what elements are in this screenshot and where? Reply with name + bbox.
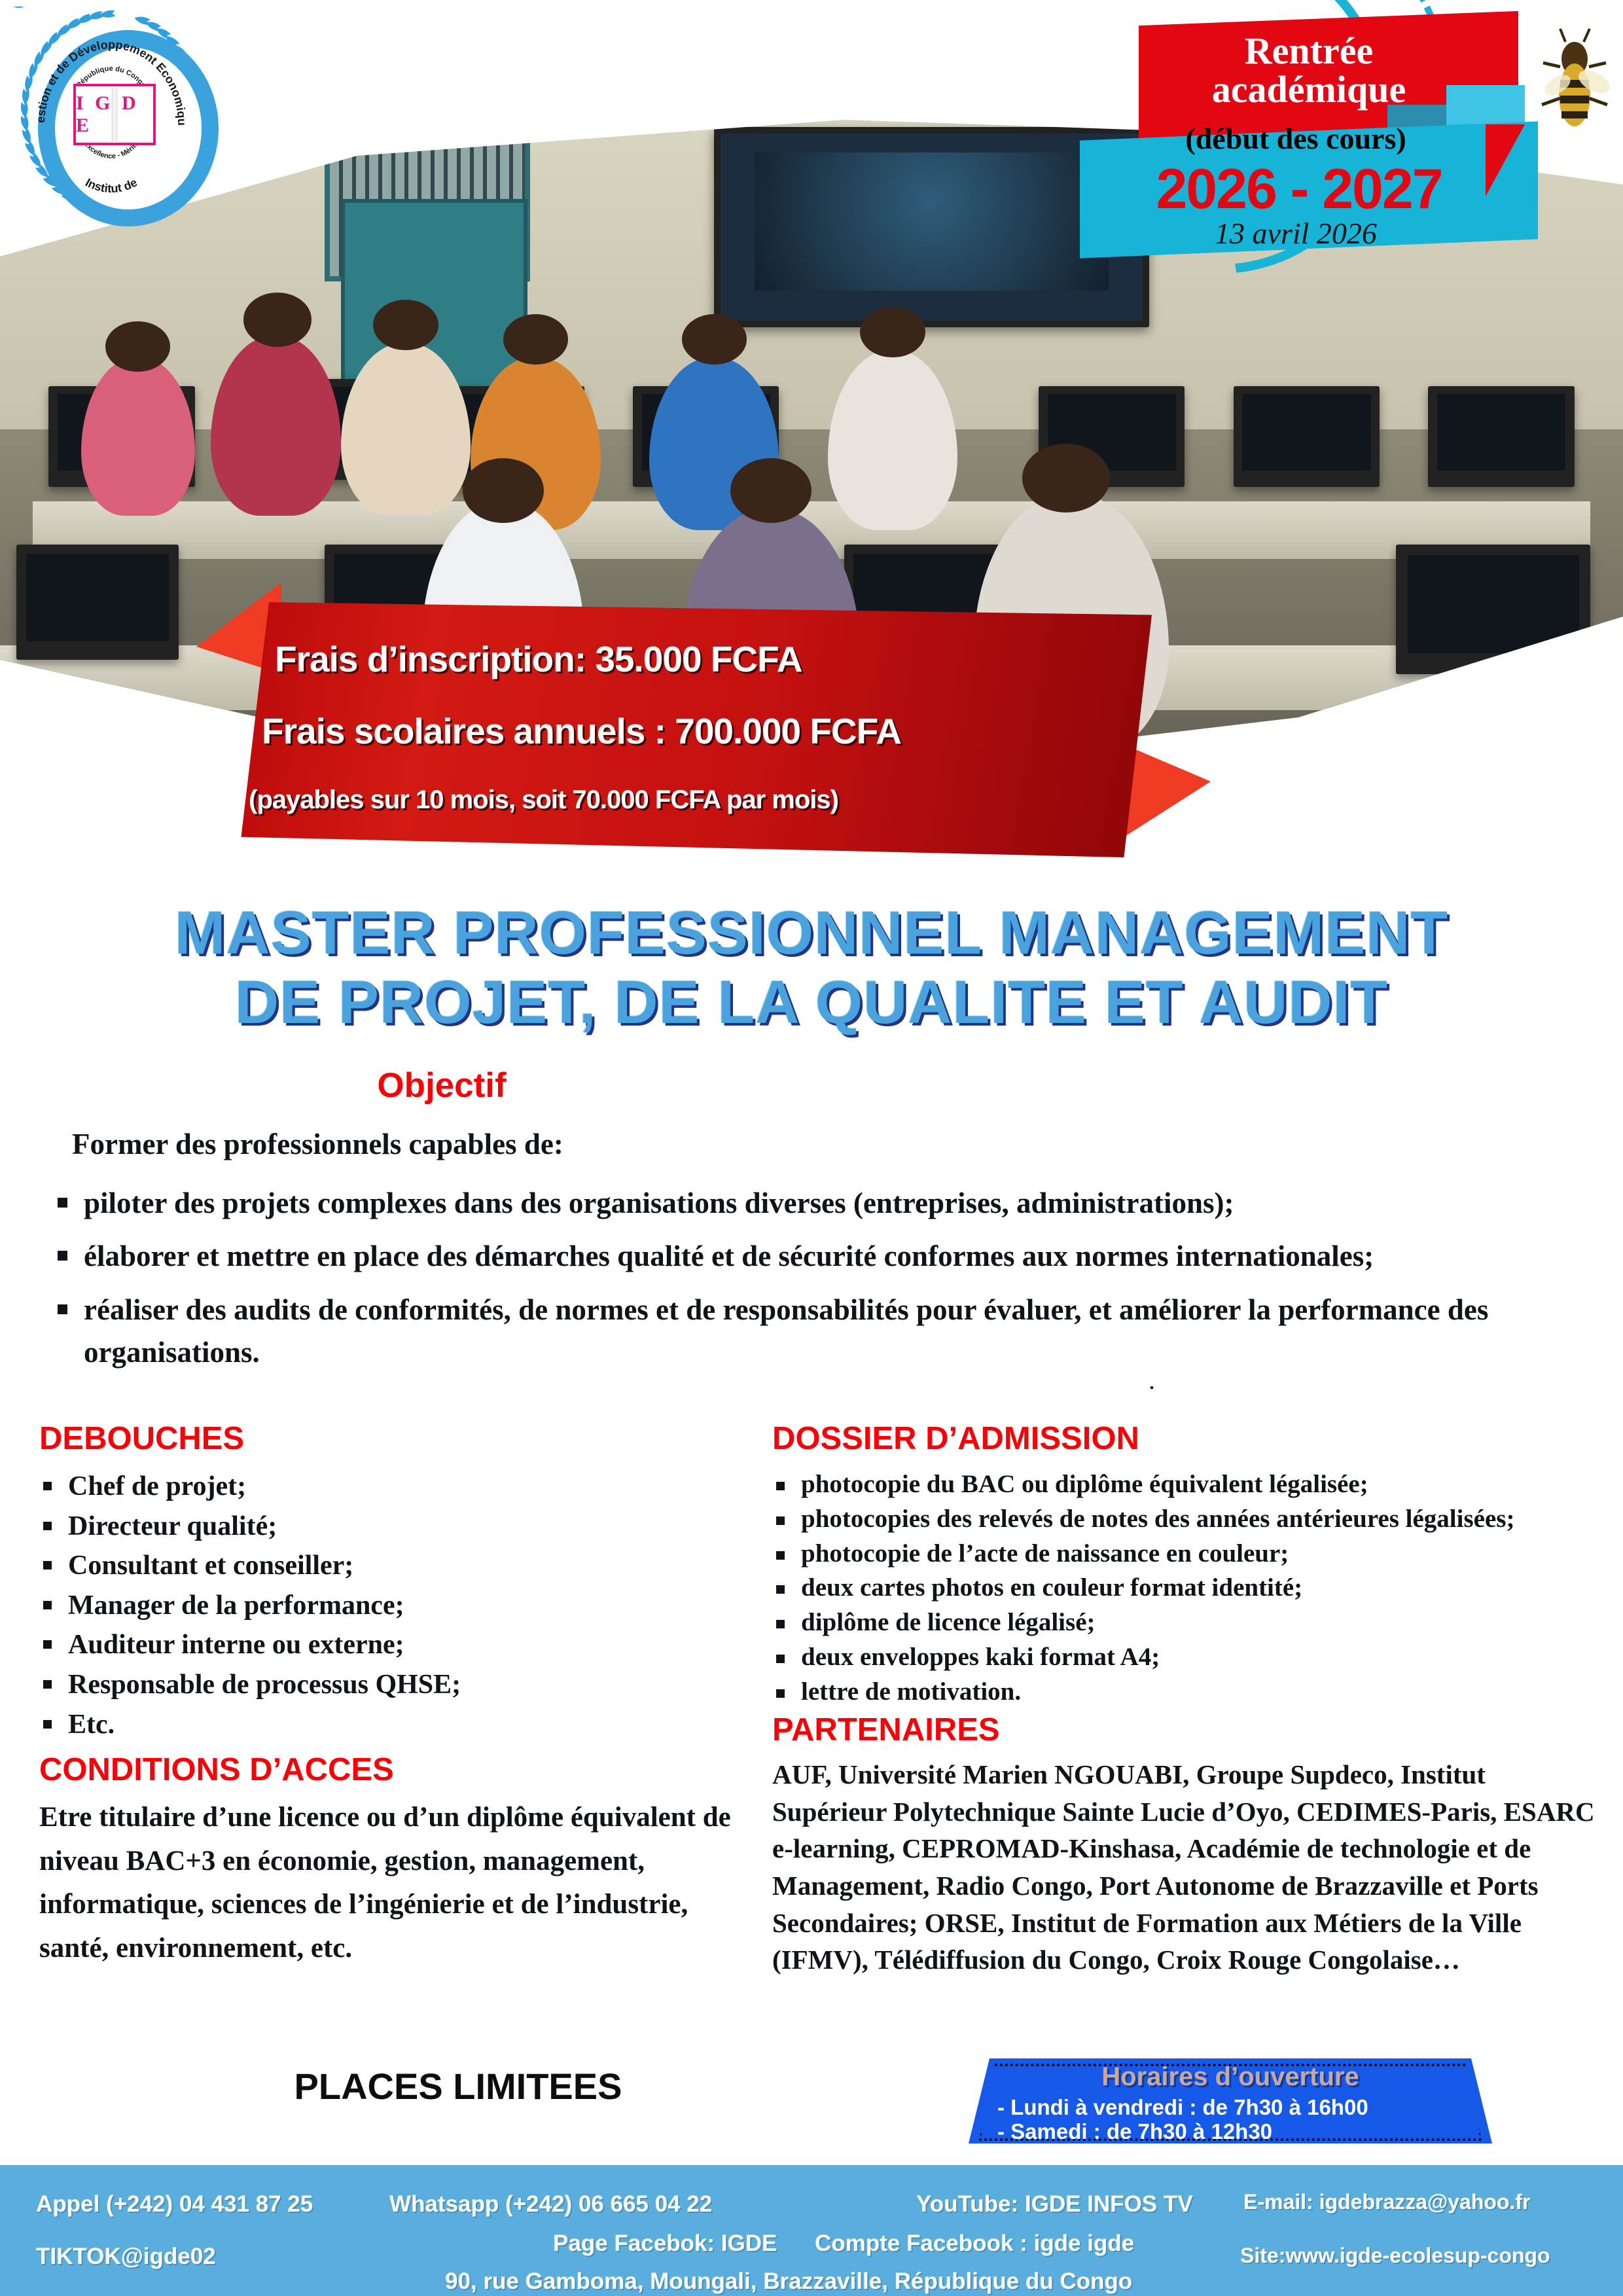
footer-youtube[interactable]: YouTube: IGDE INFOS TV	[916, 2191, 1193, 2217]
list-item: photocopie du BAC ou diplôme équivalent …	[772, 1469, 1603, 1501]
page-title-line1: MASTER PROFESSIONNEL MANAGEMENT	[0, 898, 1623, 967]
stray-dot: .	[1149, 1365, 1155, 1395]
monitor	[16, 545, 179, 660]
list-item: Auditeur interne ou externe;	[39, 1627, 733, 1663]
partenaires-text: AUF, Université Marien NGOUABI, Groupe S…	[772, 1756, 1603, 1978]
conditions-text: Etre titulaire d’une licence ou d’un dip…	[39, 1796, 733, 1971]
rentree-line1: Rentrée	[1158, 31, 1459, 70]
objectif-heading: Objectif	[0, 1066, 883, 1105]
bee-icon	[1531, 20, 1616, 144]
objectif-lead: Former des professionnels capables de:	[72, 1127, 563, 1161]
rentree-line2: académique	[1158, 70, 1459, 109]
footer-website[interactable]: Site:www.igde-ecolesup-congo	[1240, 2244, 1550, 2268]
banner-red-pointer	[1486, 124, 1525, 196]
rentree-subtitle: (début des cours)	[1126, 121, 1466, 156]
page-title-line2: DE PROJET, DE LA QUALITE ET AUDIT	[0, 967, 1623, 1037]
logo-arc-bottom-text: Institut de	[83, 175, 139, 195]
list-item: photocopie de l’acte de naissance en cou…	[772, 1538, 1603, 1570]
objectif-item: élaborer et mettre en place des démarche…	[52, 1235, 1623, 1278]
page-title: MASTER PROFESSIONNEL MANAGEMENT DE PROJE…	[0, 898, 1623, 1037]
dossier-heading: DOSSIER D’ADMISSION	[772, 1420, 1603, 1457]
list-item: deux enveloppes kaki format A4;	[772, 1641, 1603, 1674]
student-head	[373, 300, 438, 350]
fee-registration: Frais d’inscription: 35.000 FCFA	[275, 638, 802, 680]
fee-installments: (payables sur 10 mois, soit 70.000 FCFA …	[249, 785, 838, 815]
places-limitees: PLACES LIMITEES	[288, 2065, 628, 2108]
list-item: diplôme de licence légalisé;	[772, 1607, 1603, 1639]
svg-text:Institut de: Institut de	[83, 175, 139, 195]
footer-facebook-page[interactable]: Page Facebok: IGDE	[553, 2231, 777, 2257]
dossier-list: photocopie du BAC ou diplôme équivalent …	[772, 1469, 1603, 1708]
student-head	[730, 458, 811, 523]
horaires-banner: Horaires d’ouverture - Lundi à vendredi …	[969, 2058, 1492, 2144]
student-head	[1022, 444, 1110, 512]
list-item: lettre de motivation.	[772, 1676, 1603, 1708]
conditions-heading: CONDITIONS D’ACCES	[39, 1751, 733, 1788]
monitor	[1396, 545, 1591, 674]
left-column: DEBOUCHES Chef de projet; Directeur qual…	[39, 1420, 733, 1971]
list-item: Consultant et conseiller;	[39, 1548, 733, 1584]
student-head	[463, 458, 544, 523]
horaires-saturday: - Samedi : de 7h30 à 12h30	[997, 2119, 1272, 2144]
student-head	[860, 307, 925, 357]
student-head	[503, 314, 568, 365]
list-item: deux cartes photos en couleur format ide…	[772, 1572, 1603, 1604]
list-item: photocopies des relevés de notes des ann…	[772, 1503, 1603, 1535]
footer-phone[interactable]: Appel (+242) 04 431 87 25	[36, 2191, 313, 2217]
list-item: Manager de la performance;	[39, 1588, 733, 1624]
student-head	[682, 314, 747, 365]
monitor	[1234, 386, 1380, 487]
fees-ribbon: Frais d’inscription: 35.000 FCFA Frais s…	[196, 576, 1204, 890]
footer-email[interactable]: E-mail: igdebrazza@yahoo.fr	[1243, 2190, 1530, 2214]
horaires-weekday: - Lundi à vendredi : de 7h30 à 16h00	[997, 2095, 1368, 2120]
list-item: Responsable de processus QHSE;	[39, 1667, 733, 1703]
rentree-years: 2026 - 2027	[1126, 157, 1472, 222]
footer-address: 90, rue Gamboma, Moungali, Brazzaville, …	[445, 2269, 1132, 2295]
partenaires-heading: PARTENAIRES	[772, 1712, 1603, 1748]
right-column: DOSSIER D’ADMISSION photocopie du BAC ou…	[772, 1420, 1603, 1979]
rentree-title: Rentrée académique	[1158, 31, 1459, 109]
list-item: Etc.	[39, 1707, 733, 1743]
debouches-heading: DEBOUCHES	[39, 1420, 733, 1457]
footer-tiktok[interactable]: TIKTOK@igde02	[36, 2244, 216, 2270]
debouches-list: Chef de projet; Directeur qualité; Consu…	[39, 1469, 733, 1742]
igde-logo: Gestion et de Développement Economique I…	[13, 7, 209, 216]
fee-annual: Frais scolaires annuels : 700.000 FCFA	[262, 710, 901, 752]
list-item: Chef de projet;	[39, 1469, 733, 1505]
list-item: Directeur qualité;	[39, 1509, 733, 1545]
contact-footer: Appel (+242) 04 431 87 25 TIKTOK@igde02 …	[0, 2165, 1623, 2296]
objectif-list: piloter des projets complexes dans des o…	[26, 1182, 1623, 1384]
rentree-date: 13 avril 2026	[1126, 216, 1466, 251]
rentree-banner: Rentrée académique (début des cours) 202…	[1080, 0, 1623, 275]
objectif-item: réaliser des audits de conformités, de n…	[52, 1289, 1623, 1374]
footer-whatsapp[interactable]: Whatsapp (+242) 06 665 04 22	[389, 2191, 712, 2217]
student-head	[243, 293, 312, 347]
horaires-title: Horaires d’ouverture	[969, 2062, 1492, 2092]
logo-book-icon: I G D E	[73, 84, 156, 145]
objectif-item: piloter des projets complexes dans des o…	[52, 1182, 1623, 1225]
footer-facebook-account[interactable]: Compte Facebook : igde igde	[815, 2231, 1134, 2257]
monitor	[1428, 386, 1574, 487]
logo-acronym: I G D E	[76, 92, 153, 137]
student-head	[105, 321, 170, 372]
